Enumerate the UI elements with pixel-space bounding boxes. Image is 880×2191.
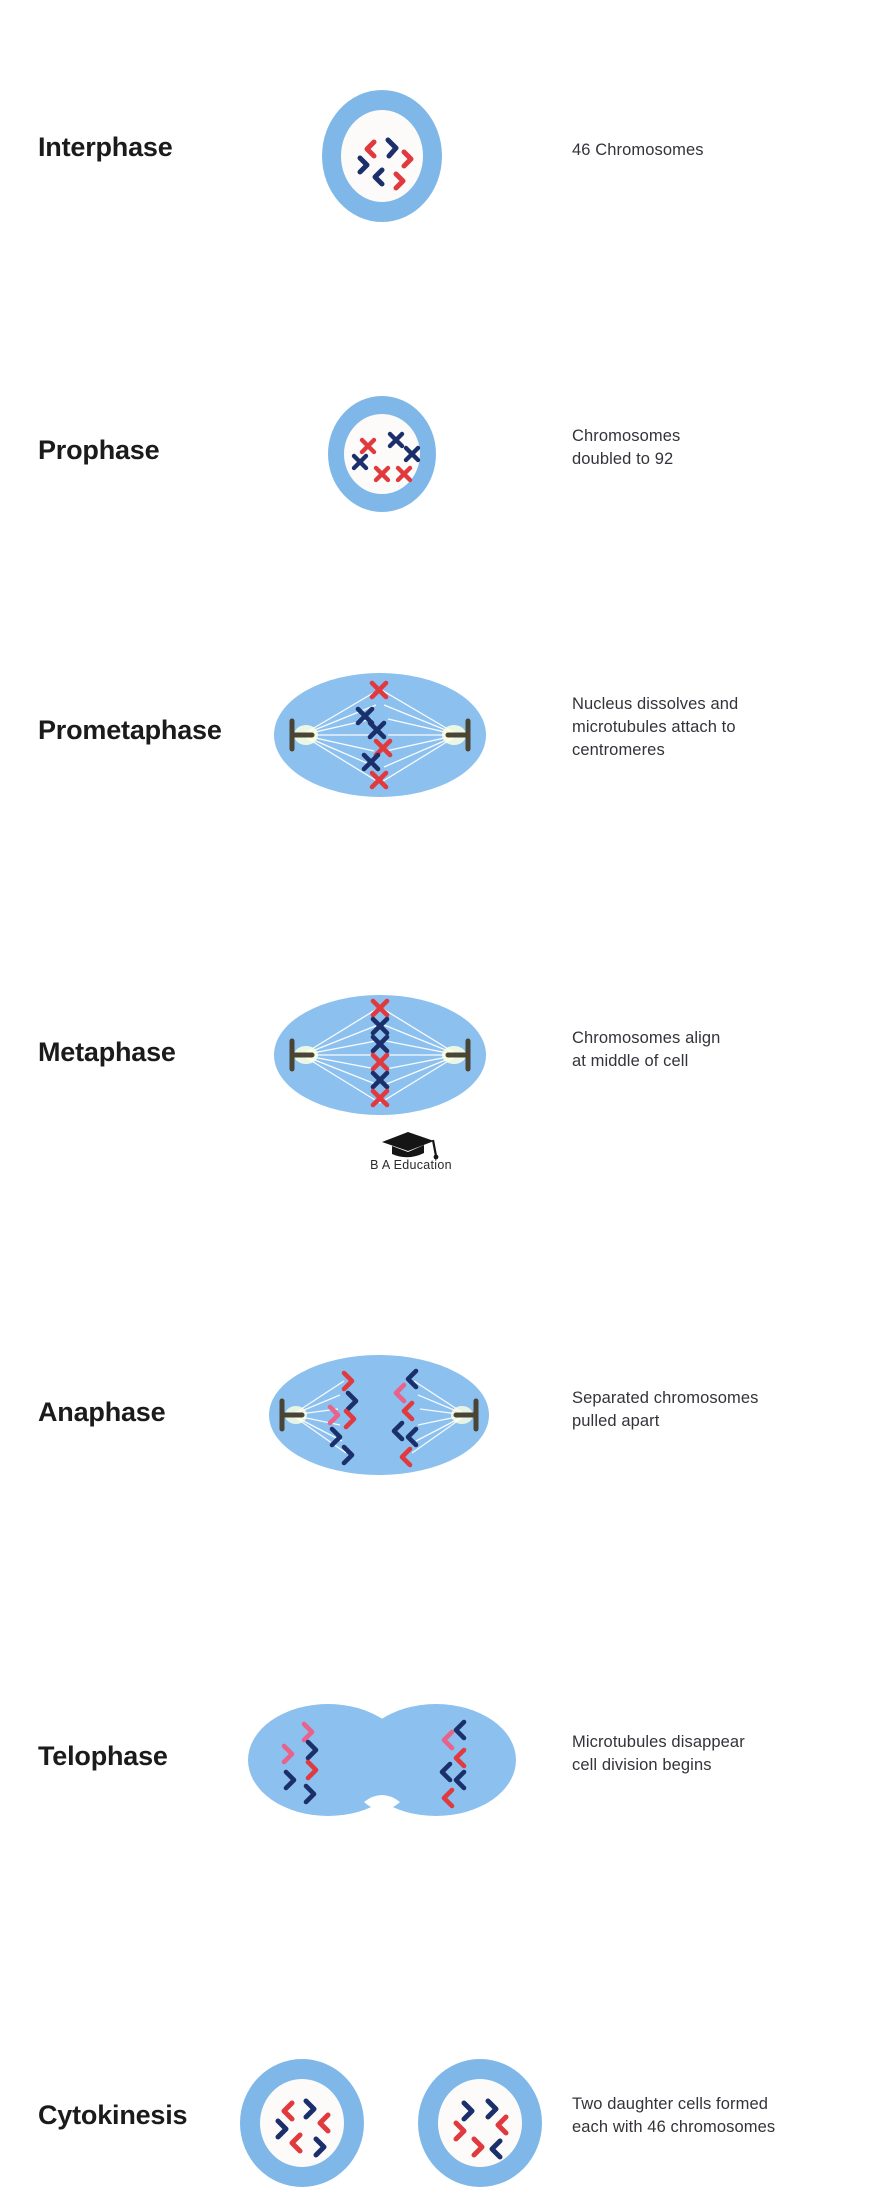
- stage-label-interphase: Interphase: [38, 134, 173, 161]
- stage-label-anaphase: Anaphase: [38, 1399, 165, 1426]
- stage-row-metaphase: Metaphase Chromosomes align at: [0, 495, 880, 625]
- watermark: B A Education: [326, 1126, 496, 1172]
- stage-label-cytokinesis: Cytokinesis: [38, 2102, 187, 2129]
- watermark-text: B A Education: [326, 1158, 496, 1172]
- stage-description-cytokinesis: Two daughter cells formed each with 46 c…: [572, 2093, 852, 2139]
- stage-row-telophase: Telophase Microtubules: [0, 850, 880, 980]
- stage-description-interphase: 46 Chromosomes: [572, 139, 852, 162]
- cell-art-cytokinesis-daughter-2: [412, 2055, 548, 2191]
- stage-row-interphase: Interphase 46 Chromosomes: [0, 40, 880, 190]
- stage-row-prophase: Prophase Chromosomes doubled to 92: [0, 195, 880, 325]
- graduation-cap-icon: [378, 1126, 444, 1160]
- stage-label-telophase: Telophase: [38, 1743, 168, 1770]
- cell-art-cytokinesis-daughter-1: [234, 2055, 370, 2191]
- mitosis-diagram: Interphase 46 Chromosomes Prophase: [0, 0, 880, 1200]
- cell-art-telophase: [248, 1702, 516, 1824]
- stage-description-telophase: Microtubules disappear cell division beg…: [572, 1731, 852, 1777]
- stage-row-anaphase: Anaphase: [0, 675, 880, 805]
- stage-row-prometaphase: Prometaphase Nucleus dissolves: [0, 335, 880, 465]
- stage-description-anaphase: Separated chromosomes pulled apart: [572, 1387, 852, 1433]
- cell-art-anaphase: [264, 1351, 494, 1479]
